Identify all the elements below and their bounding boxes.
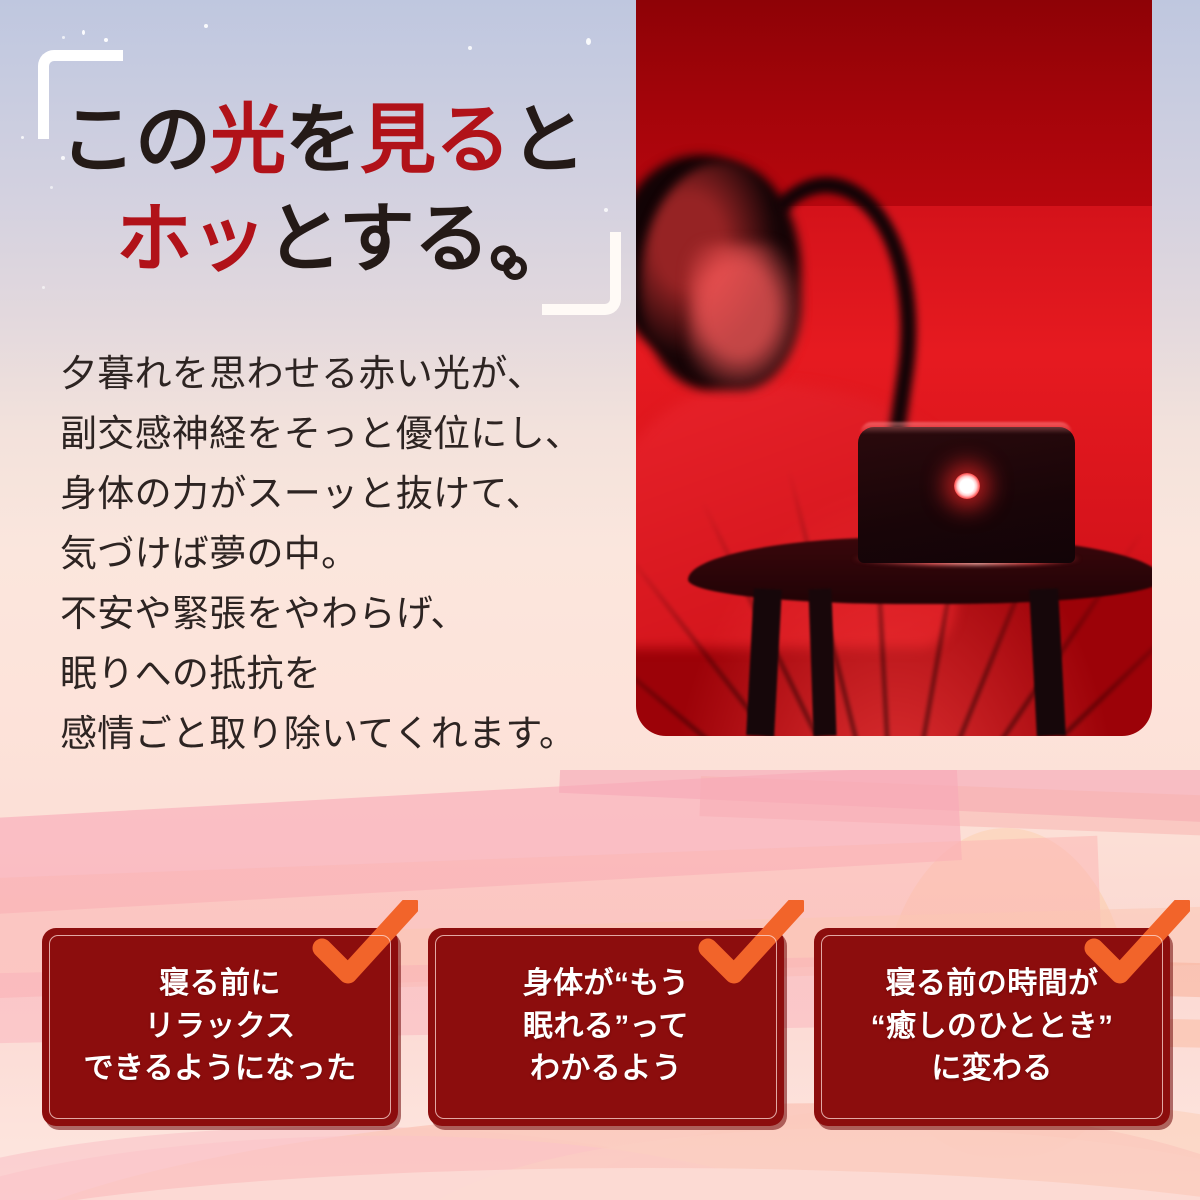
photo-device-top-highlight <box>860 422 1072 434</box>
poster-canvas: この光を見ると ホッとする。 夕暮れを思わせる赤い光が、 副交感神経をそっと優位… <box>0 0 1200 1200</box>
sparkle-icon <box>586 38 591 45</box>
body-line: 身体の力がスーッと抜けて、 <box>60 464 640 524</box>
body-line: 夕暮れを思わせる赤い光が、 <box>60 344 640 404</box>
body-line: 気づけば夢の中。 <box>60 524 640 584</box>
benefit-card-line: に変わる <box>826 1048 1158 1091</box>
led-indicator-icon <box>954 473 980 499</box>
benefit-card-line: “癒しのひととき” <box>826 1006 1158 1049</box>
sparkle-icon <box>104 38 108 42</box>
sparkle-icon <box>42 286 45 289</box>
body-copy: 夕暮れを思わせる赤い光が、 副交感神経をそっと優位にし、 身体の力がスーッと抜け… <box>60 344 640 764</box>
sparkle-icon <box>468 46 472 50</box>
headline-line-2: ホッとする。 <box>60 191 620 290</box>
check-icon <box>1082 900 1190 986</box>
sparkle-icon <box>21 136 24 139</box>
benefit-card-line: わかるよう <box>440 1048 772 1091</box>
benefit-card-line: 眠れる”って <box>440 1006 772 1049</box>
check-icon <box>310 900 418 986</box>
body-line: 副交感神経をそっと優位にし、 <box>60 404 640 464</box>
page-title: この光を見ると ホッとする。 <box>60 92 620 290</box>
benefit-card-line: できるようになった <box>54 1048 386 1091</box>
sparkle-icon <box>82 30 85 35</box>
check-icon <box>696 900 804 986</box>
body-line: 眠りへの抵抗を <box>60 644 640 704</box>
product-photo <box>636 0 1152 736</box>
benefit-card-list: 寝る前に リラックス できるようになった 身体が“もう 眠れる”って わかるよう… <box>0 928 1200 1148</box>
headline-line-1: この光を見ると <box>60 92 620 191</box>
body-line: 不安や緊張をやわらげ、 <box>60 584 640 644</box>
benefit-card-relax[interactable]: 寝る前に リラックス できるようになった <box>42 928 398 1126</box>
sparkle-icon <box>50 186 53 189</box>
benefit-card-sleepy[interactable]: 身体が“もう 眠れる”って わかるよう <box>428 928 784 1126</box>
sparkle-icon <box>62 36 65 39</box>
body-line: 感情ごと取り除いてくれます。 <box>60 704 640 764</box>
benefit-card-line: リラックス <box>54 1006 386 1049</box>
sparkle-icon <box>204 24 208 28</box>
benefit-card-healing[interactable]: 寝る前の時間が “癒しのひととき” に変わる <box>814 928 1170 1126</box>
